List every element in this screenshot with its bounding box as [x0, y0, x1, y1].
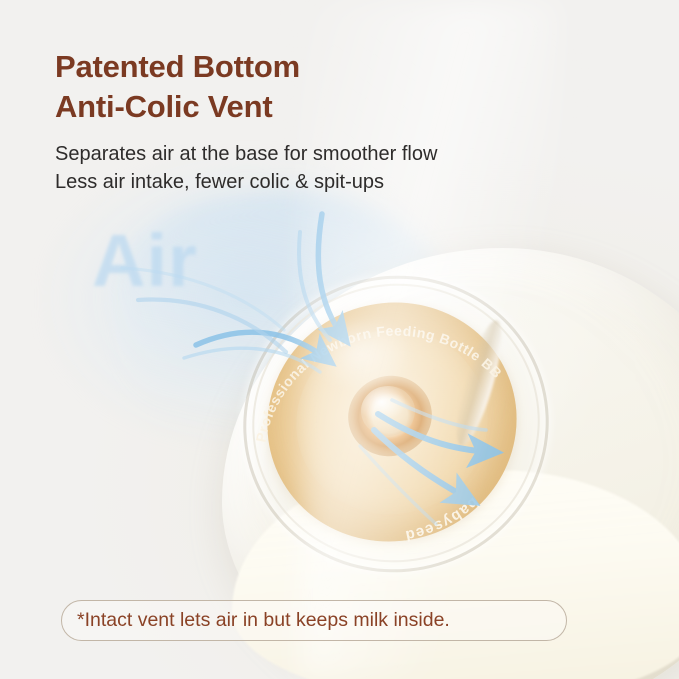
page-subtitle: Separates air at the base for smoother f…: [55, 140, 615, 197]
product-feature-banner: Air Professional Newborn Feeding Bottle …: [0, 0, 679, 679]
page-subtitle-line-2: Less air intake, fewer colic & spit-ups: [55, 168, 615, 196]
page-title-line-1: Patented Bottom: [55, 49, 300, 84]
page-title-line-2: Anti-Colic Vent: [55, 87, 615, 127]
footnote-caption: *Intact vent lets air in but keeps milk …: [61, 600, 567, 641]
page-subtitle-line-1: Separates air at the base for smoother f…: [55, 143, 437, 165]
page-title: Patented Bottom Anti-Colic Vent: [55, 47, 615, 128]
vent-membrane-dome: [361, 386, 415, 436]
